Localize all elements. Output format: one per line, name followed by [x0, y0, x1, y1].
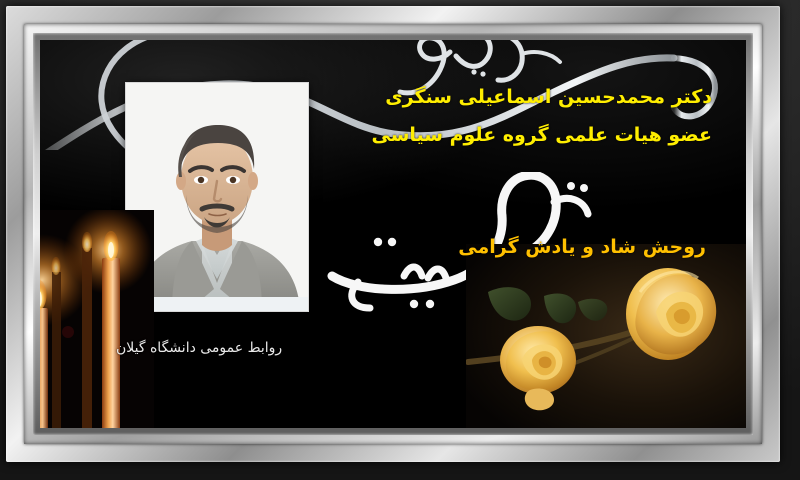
picture-frame-outer: دکتر محمدحسین اسماعیلی سنگری عضو هیات عل… — [6, 6, 780, 462]
roses-decoration — [466, 244, 746, 428]
poster-canvas: دکتر محمدحسین اسماعیلی سنگری عضو هیات عل… — [0, 0, 800, 480]
blessing-line: روحش شاد و یادش گرامی — [458, 236, 706, 258]
candles-decoration — [40, 210, 154, 428]
poster-inner-canvas: دکتر محمدحسین اسماعیلی سنگری عضو هیات عل… — [40, 40, 746, 428]
candles-icon — [40, 210, 154, 428]
yellow-roses-icon — [466, 244, 746, 428]
signature-line: روابط عمومی دانشگاه گیلان — [116, 340, 282, 356]
deceased-title-line: عضو هیات علمی گروه علوم سیاسی — [372, 124, 713, 146]
deceased-name-line: دکتر محمدحسین اسماعیلی سنگری — [385, 86, 712, 108]
